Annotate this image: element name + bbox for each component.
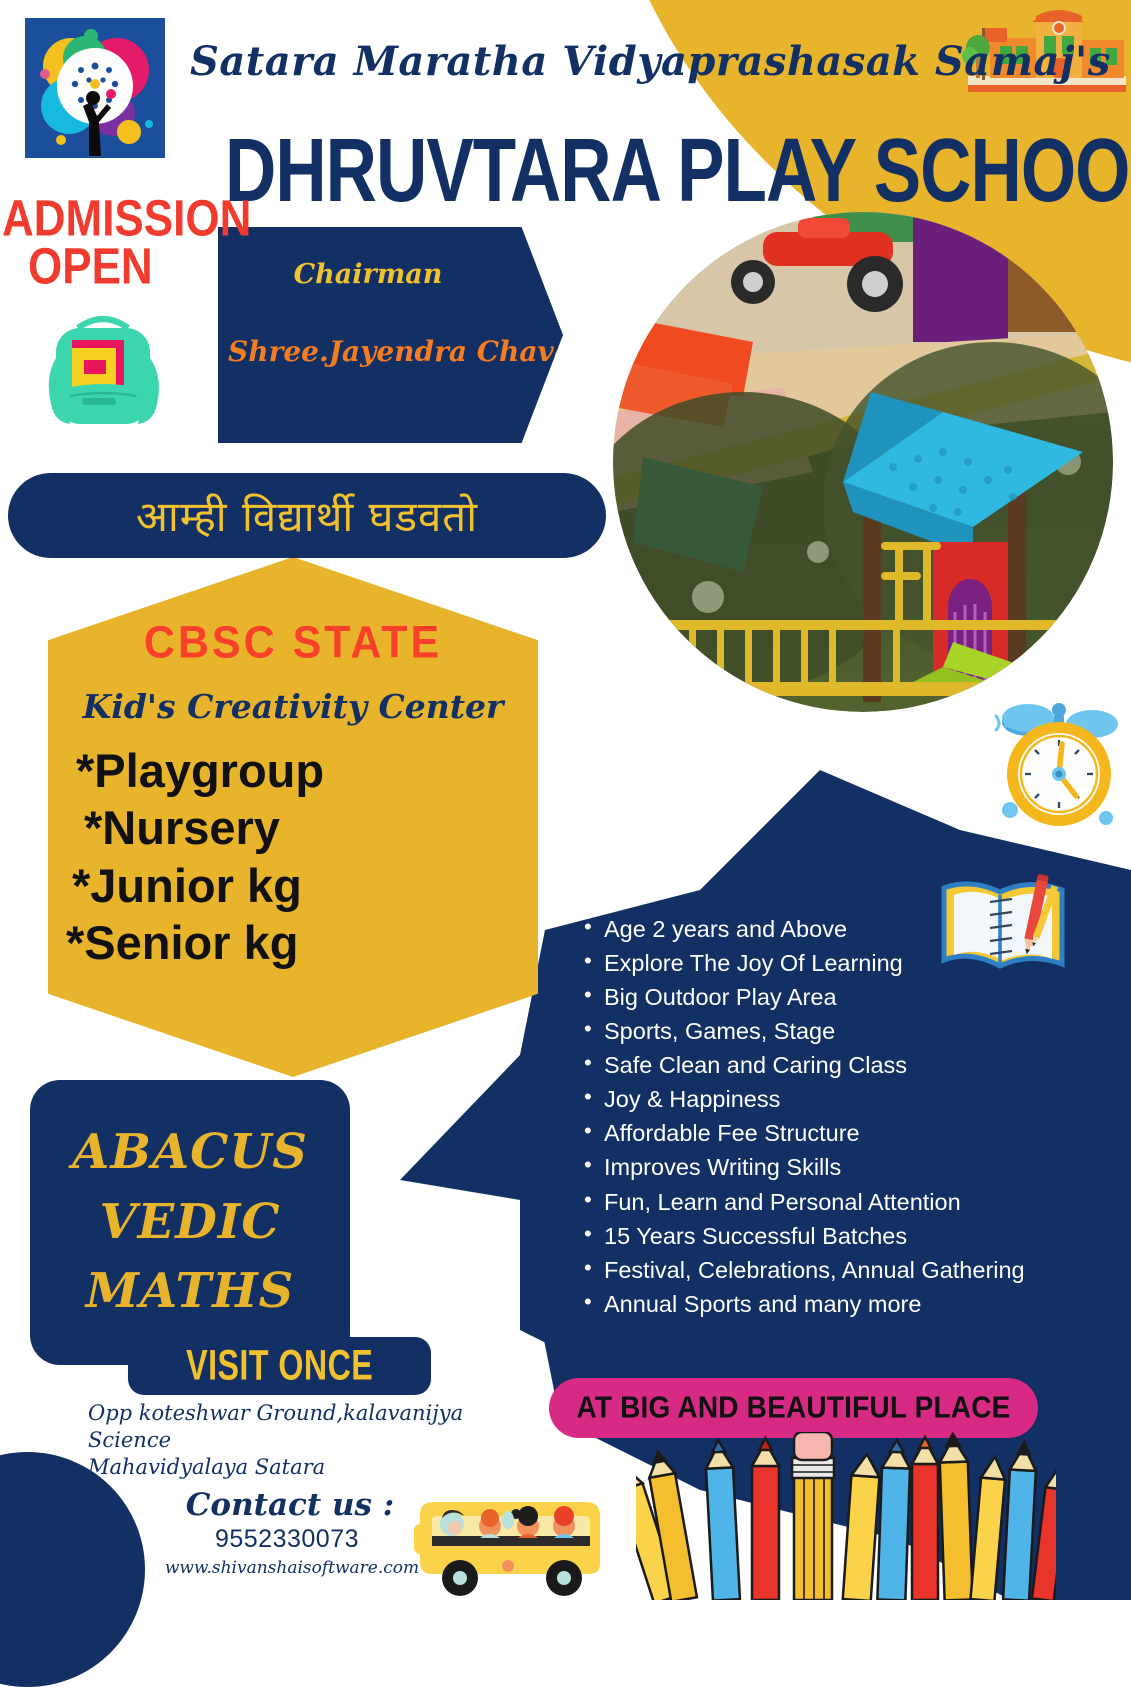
list-item: Big Outdoor Play Area bbox=[580, 980, 1100, 1014]
abacus-vedic-maths-box: ABACUS VEDIC MATHS bbox=[30, 1080, 350, 1365]
address-line-1: Opp koteshwar Ground,kalavanijya Science bbox=[88, 1400, 538, 1454]
list-item: Annual Sports and many more bbox=[580, 1287, 1100, 1321]
dhruvtara-logo bbox=[25, 18, 165, 158]
list-item: Fun, Learn and Personal Attention bbox=[580, 1185, 1100, 1219]
abacus-line-1: ABACUS bbox=[72, 1118, 308, 1188]
list-item: *Junior kg bbox=[62, 857, 552, 914]
program-list: *Playgroup *Nursery *Junior kg *Senior k… bbox=[62, 742, 552, 971]
list-item: Improves Writing Skills bbox=[580, 1150, 1100, 1184]
list-item: *Playgroup bbox=[62, 742, 552, 799]
list-item: Sports, Games, Stage bbox=[580, 1014, 1100, 1048]
list-item: *Nursery bbox=[62, 799, 552, 856]
chairman-label: Chairman bbox=[218, 259, 518, 290]
marathi-tagline-text: आम्ही विद्यार्थी घडवतो bbox=[136, 487, 478, 544]
abacus-line-2: VEDIC bbox=[99, 1188, 280, 1258]
visit-once-label: VISIT ONCE bbox=[186, 1342, 373, 1391]
admission-open-text: ADMISSION OPEN bbox=[0, 195, 251, 291]
big-beautiful-place-banner: AT BIG AND BEAUTIFUL PLACE bbox=[549, 1378, 1038, 1438]
colored-pencils-icon bbox=[636, 1432, 1056, 1600]
admission-line-1: ADMISSION bbox=[0, 195, 251, 243]
list-item: Festival, Celebrations, Annual Gathering bbox=[580, 1253, 1100, 1287]
org-name: Satara Maratha Vidyaprashasak Samaj's bbox=[190, 38, 980, 85]
page-title: DHRUVTARA PLAY SCHOOL bbox=[225, 118, 1131, 222]
list-item: *Senior kg bbox=[62, 914, 552, 971]
school-bus-icon bbox=[412, 1478, 612, 1600]
list-item: Safe Clean and Caring Class bbox=[580, 1048, 1100, 1082]
creativity-center-subtitle: Kid's Creativity Center bbox=[48, 687, 538, 726]
visit-once-button[interactable]: VISIT ONCE bbox=[128, 1337, 431, 1395]
admission-line-2: OPEN bbox=[0, 243, 251, 291]
marathi-tagline-pill: आम्ही विद्यार्थी घडवतो bbox=[8, 473, 606, 558]
list-item: Joy & Happiness bbox=[580, 1082, 1100, 1116]
list-item: Affordable Fee Structure bbox=[580, 1116, 1100, 1150]
pink-banner-label: AT BIG AND BEAUTIFUL PLACE bbox=[576, 1391, 1010, 1426]
chairman-banner: Chairman Shree.Jayendra Chavan Dada bbox=[218, 227, 563, 443]
abacus-line-3: MATHS bbox=[86, 1257, 294, 1327]
alarm-clock-icon bbox=[988, 700, 1131, 835]
programs-hexagon: CBSC STATE Kid's Creativity Center *Play… bbox=[48, 557, 538, 1077]
playground-photo bbox=[613, 212, 1113, 712]
chairman-name: Shree.Jayendra Chavan Dada bbox=[222, 335, 562, 368]
board-label: CBSC STATE bbox=[48, 618, 538, 669]
open-book-pencil-icon bbox=[938, 862, 1068, 977]
list-item: 15 Years Successful Batches bbox=[580, 1219, 1100, 1253]
address-line-2: Mahavidyalaya Satara bbox=[88, 1454, 538, 1481]
backpack-icon bbox=[38, 300, 168, 440]
